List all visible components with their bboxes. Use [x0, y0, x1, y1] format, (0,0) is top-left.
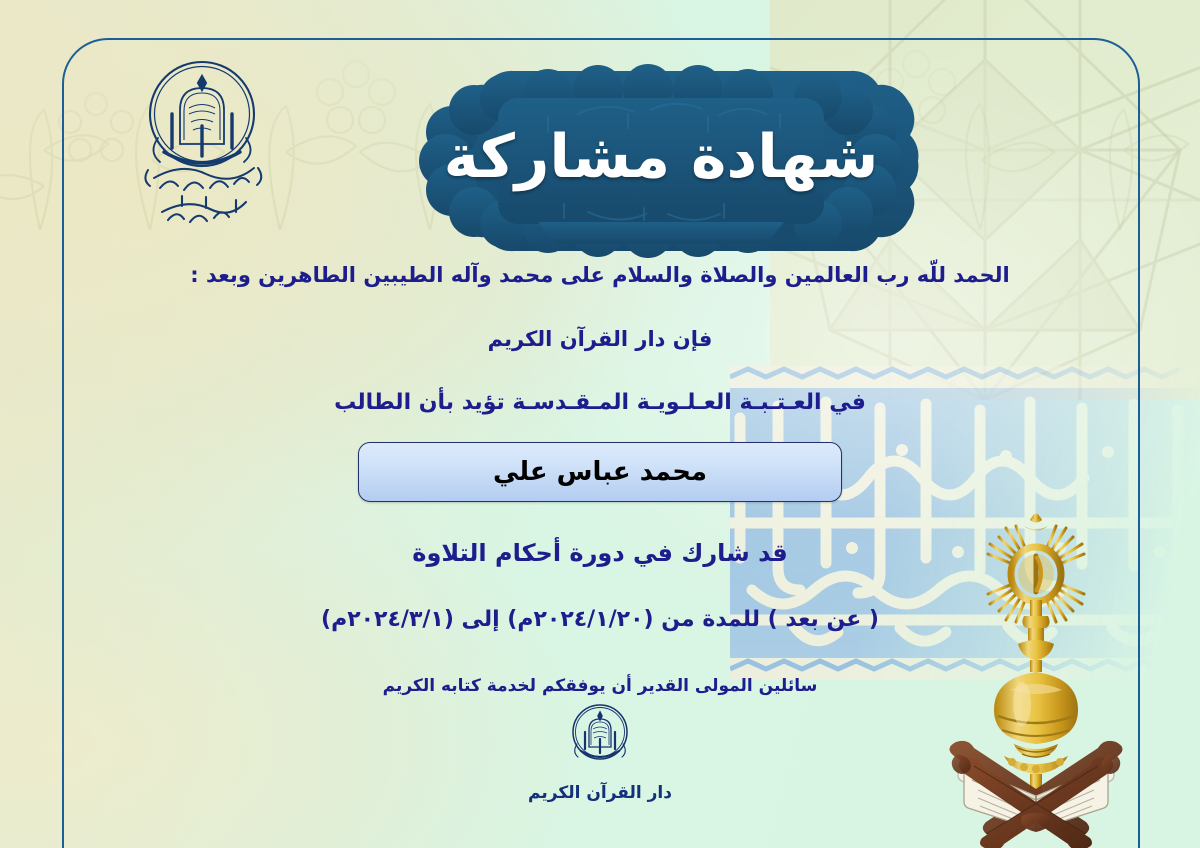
- certificate-page: شهادة مشاركة الحمد للّه رب العالمين والص…: [0, 0, 1200, 848]
- participant-name-container: محمد عباس علي: [0, 442, 1200, 502]
- body-line-authority: في العـتـبـة العـلـويـة المـقـدسـة تؤيد …: [0, 389, 1200, 417]
- participant-name: محمد عباس علي: [493, 457, 707, 487]
- quran-rihal-icon: [918, 504, 1186, 848]
- title-banner: شهادة مشاركة: [388, 62, 934, 260]
- body-line-praise: الحمد للّه رب العالمين والصلاة والسلام ع…: [0, 262, 1200, 288]
- alawi-shrine-seal-icon: [118, 52, 286, 227]
- body-line-issuer: فإن دار القرآن الكريم: [0, 326, 1200, 352]
- certificate-title: شهادة مشاركة: [388, 62, 934, 260]
- participant-name-box: محمد عباس علي: [358, 442, 842, 502]
- footer-emblem-caption: دار القرآن الكريم: [528, 783, 672, 803]
- dar-alquran-seal-icon: [557, 697, 643, 771]
